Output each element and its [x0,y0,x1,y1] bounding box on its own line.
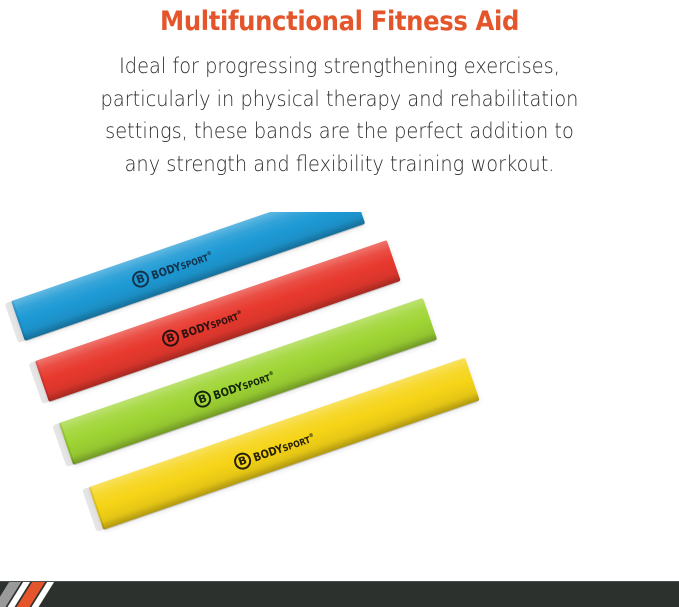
description-line-2: particularly in physical therapy and reh… [34,84,645,117]
marketing-copy-block: Multifunctional Fitness Aid Ideal for pr… [0,0,679,182]
description-line-4: any strength and flexibility training wo… [34,149,645,182]
description-line-3: settings, these bands are the perfect ad… [34,116,645,149]
page-title: Multifunctional Fitness Aid [34,0,645,37]
description-line-1: Ideal for progressing strengthening exer… [34,51,645,84]
page-description: Ideal for progressing strengthening exer… [34,37,645,182]
footer-bar [0,581,679,607]
product-image: B BODYSPORT® B BODYSPORT® B BODYSPORT® B [0,212,679,581]
